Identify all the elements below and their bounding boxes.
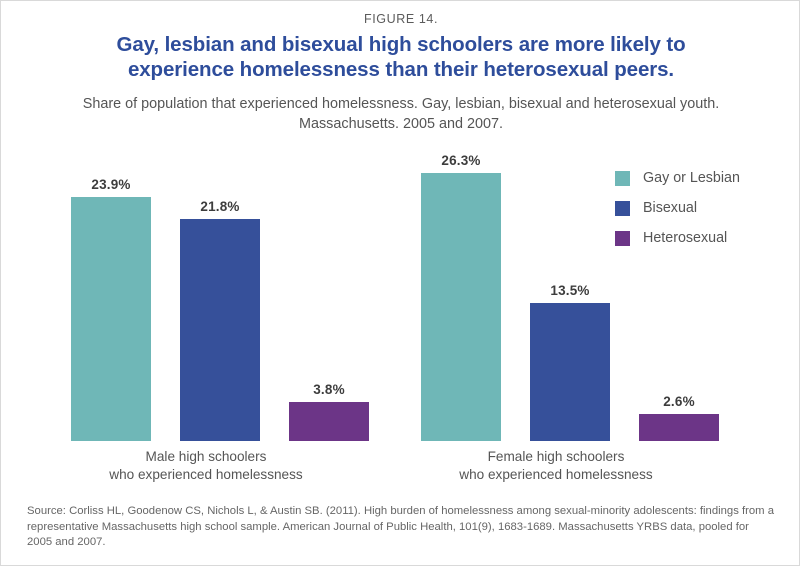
figure-canvas: FIGURE 14. Gay, lesbian and bisexual hig… [0,0,800,566]
bar-value-female-heterosexual: 2.6% [619,394,739,409]
legend-item-gay-or-lesbian[interactable]: Gay or Lesbian [615,163,740,193]
chart-legend: Gay or Lesbian Bisexual Heterosexual [615,163,740,253]
group-label-male-line-1: Male high schoolers [51,448,361,466]
legend-swatch-icon-gay-or-lesbian [615,171,630,186]
bar-rect-male-gay-or-lesbian [71,197,151,441]
chart-subtitle: Share of population that experienced hom… [41,94,761,134]
bar-value-male-heterosexual: 3.8% [269,382,389,397]
legend-label-heterosexual: Heterosexual [643,230,727,246]
chart-title: Gay, lesbian and bisexual high schoolers… [61,32,741,82]
legend-label-bisexual: Bisexual [643,200,697,216]
plot-area: 23.9% 21.8% 3.8% Male high schoolers who… [1,1,800,567]
chart-subtitle-line-1: Share of population that experienced hom… [41,94,761,114]
bar-rect-male-bisexual [180,219,260,441]
group-label-female: Female high schoolers who experienced ho… [401,448,711,484]
group-label-female-line-1: Female high schoolers [401,448,711,466]
group-label-female-line-2: who experienced homelessness [401,466,711,484]
bar-rect-female-heterosexual [639,414,719,441]
chart-subtitle-line-2: Massachusetts. 2005 and 2007. [41,114,761,134]
bar-value-male-bisexual: 21.8% [160,199,280,214]
group-label-male: Male high schoolers who experienced home… [51,448,361,484]
bar-rect-female-bisexual [530,303,610,441]
bar-rect-female-gay-or-lesbian [421,173,501,441]
bar-value-female-gay-or-lesbian: 26.3% [401,153,521,168]
legend-item-bisexual[interactable]: Bisexual [615,193,740,223]
bar-group-male: 23.9% 21.8% 3.8% [71,141,341,441]
bar-value-female-bisexual: 13.5% [510,283,630,298]
group-label-male-line-2: who experienced homelessness [51,466,361,484]
legend-label-gay-or-lesbian: Gay or Lesbian [643,170,740,186]
figure-number-label: FIGURE 14. [1,12,800,26]
legend-swatch-icon-heterosexual [615,231,630,246]
chart-title-line-2: experience homelessness than their heter… [61,57,741,82]
bar-rect-male-heterosexual [289,402,369,441]
legend-swatch-icon-bisexual [615,201,630,216]
bar-value-male-gay-or-lesbian: 23.9% [51,177,171,192]
chart-title-line-1: Gay, lesbian and bisexual high schoolers… [61,32,741,57]
legend-item-heterosexual[interactable]: Heterosexual [615,223,740,253]
source-note: Source: Corliss HL, Goodenow CS, Nichols… [27,504,775,551]
